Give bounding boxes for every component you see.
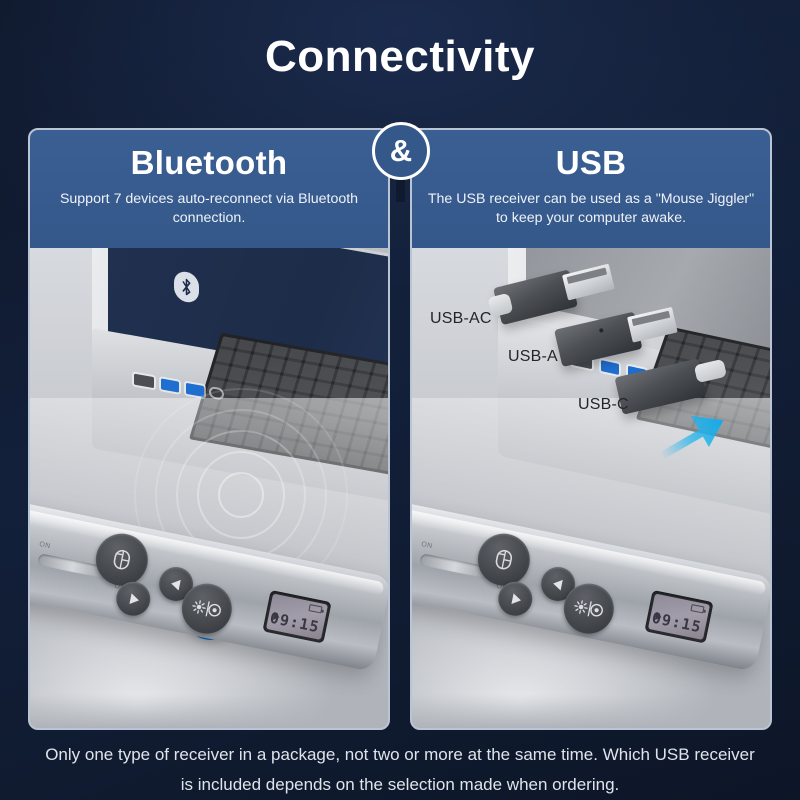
photo-bottom-fade [30,694,388,728]
remote-button-mouse[interactable] [473,529,534,590]
remote-timer-value: 09:15 [268,609,321,637]
remote-button-mouse[interactable] [91,529,152,590]
panel-usb: USB The USB receiver can be used as a "M… [410,128,772,730]
port-usb-c [211,388,222,398]
remote-lcd-display: 09:15 [262,590,331,644]
ampersand-badge: & [372,122,430,180]
dongle-label-usb-c: USB-C [578,396,629,414]
presenter-remote: ON OFF [30,500,388,672]
panel-bluetooth-header: Bluetooth Support 7 devices auto-reconne… [30,130,388,248]
remote-lcd-display: 09:15 [644,590,713,644]
battery-icon [308,604,322,613]
panel-bluetooth: Bluetooth Support 7 devices auto-reconne… [28,128,390,730]
panel-usb-heading: USB [412,140,770,186]
photo-bottom-fade [412,694,770,728]
presenter-remote: ON OFF [412,500,770,672]
panel-bluetooth-heading: Bluetooth [30,140,388,186]
dongle-label-usb-a: USB-A [508,348,558,366]
panel-usb-photo: HD [412,248,770,728]
product-infographic: Connectivity Bluetooth Support 7 devices… [0,0,800,800]
remote-switch-on-label: ON [39,541,52,550]
page-title: Connectivity [0,32,800,82]
port-usb-a-2 [186,382,204,396]
footer-caption: Only one type of receiver in a package, … [40,740,760,800]
port-hdmi [134,373,154,388]
remote-timer-value: 09:15 [650,609,703,637]
panel-bluetooth-description: Support 7 devices auto-reconnect via Blu… [30,190,388,228]
panel-bluetooth-photo: ® ON OFF [30,248,388,728]
remote-switch-on-label: ON [421,541,434,550]
battery-icon [690,604,704,613]
panel-usb-header: USB The USB receiver can be used as a "M… [412,130,770,248]
dongle-label-usb-ac: USB-AC [430,310,492,328]
panel-usb-description: The USB receiver can be used as a "Mouse… [412,190,770,228]
port-usb-a-1 [161,378,179,392]
